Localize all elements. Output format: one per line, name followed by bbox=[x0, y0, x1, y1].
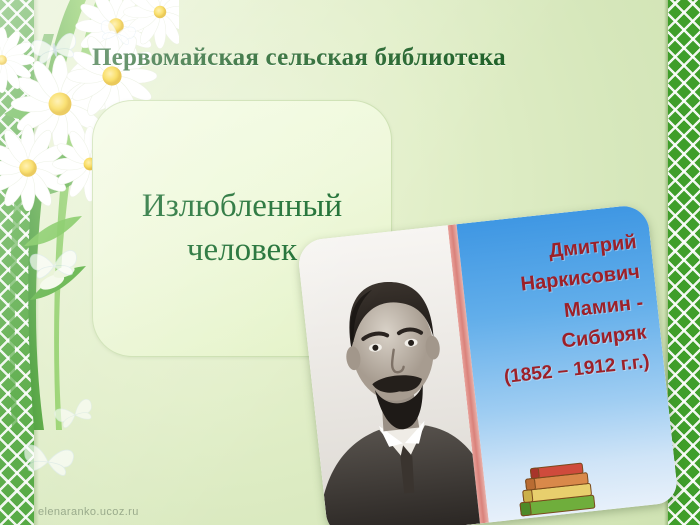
watermark: elenaranko.ucoz.ru bbox=[38, 506, 139, 518]
author-portrait bbox=[296, 225, 480, 525]
content-line-1: Излюбленный bbox=[109, 185, 375, 229]
book-stack-icon bbox=[507, 450, 605, 522]
butterfly-icon bbox=[15, 436, 81, 488]
slide-canvas: Первомайская сельская библиотека Излюбле… bbox=[0, 0, 700, 525]
author-name-panel: Дмитрий Наркисович Мамин - Сибиряк (1852… bbox=[457, 204, 679, 523]
page-title: Первомайская сельская библиотека bbox=[92, 44, 632, 72]
author-photo-card: Дмитрий Наркисович Мамин - Сибиряк (1852… bbox=[296, 204, 678, 525]
butterfly-icon bbox=[24, 242, 84, 290]
